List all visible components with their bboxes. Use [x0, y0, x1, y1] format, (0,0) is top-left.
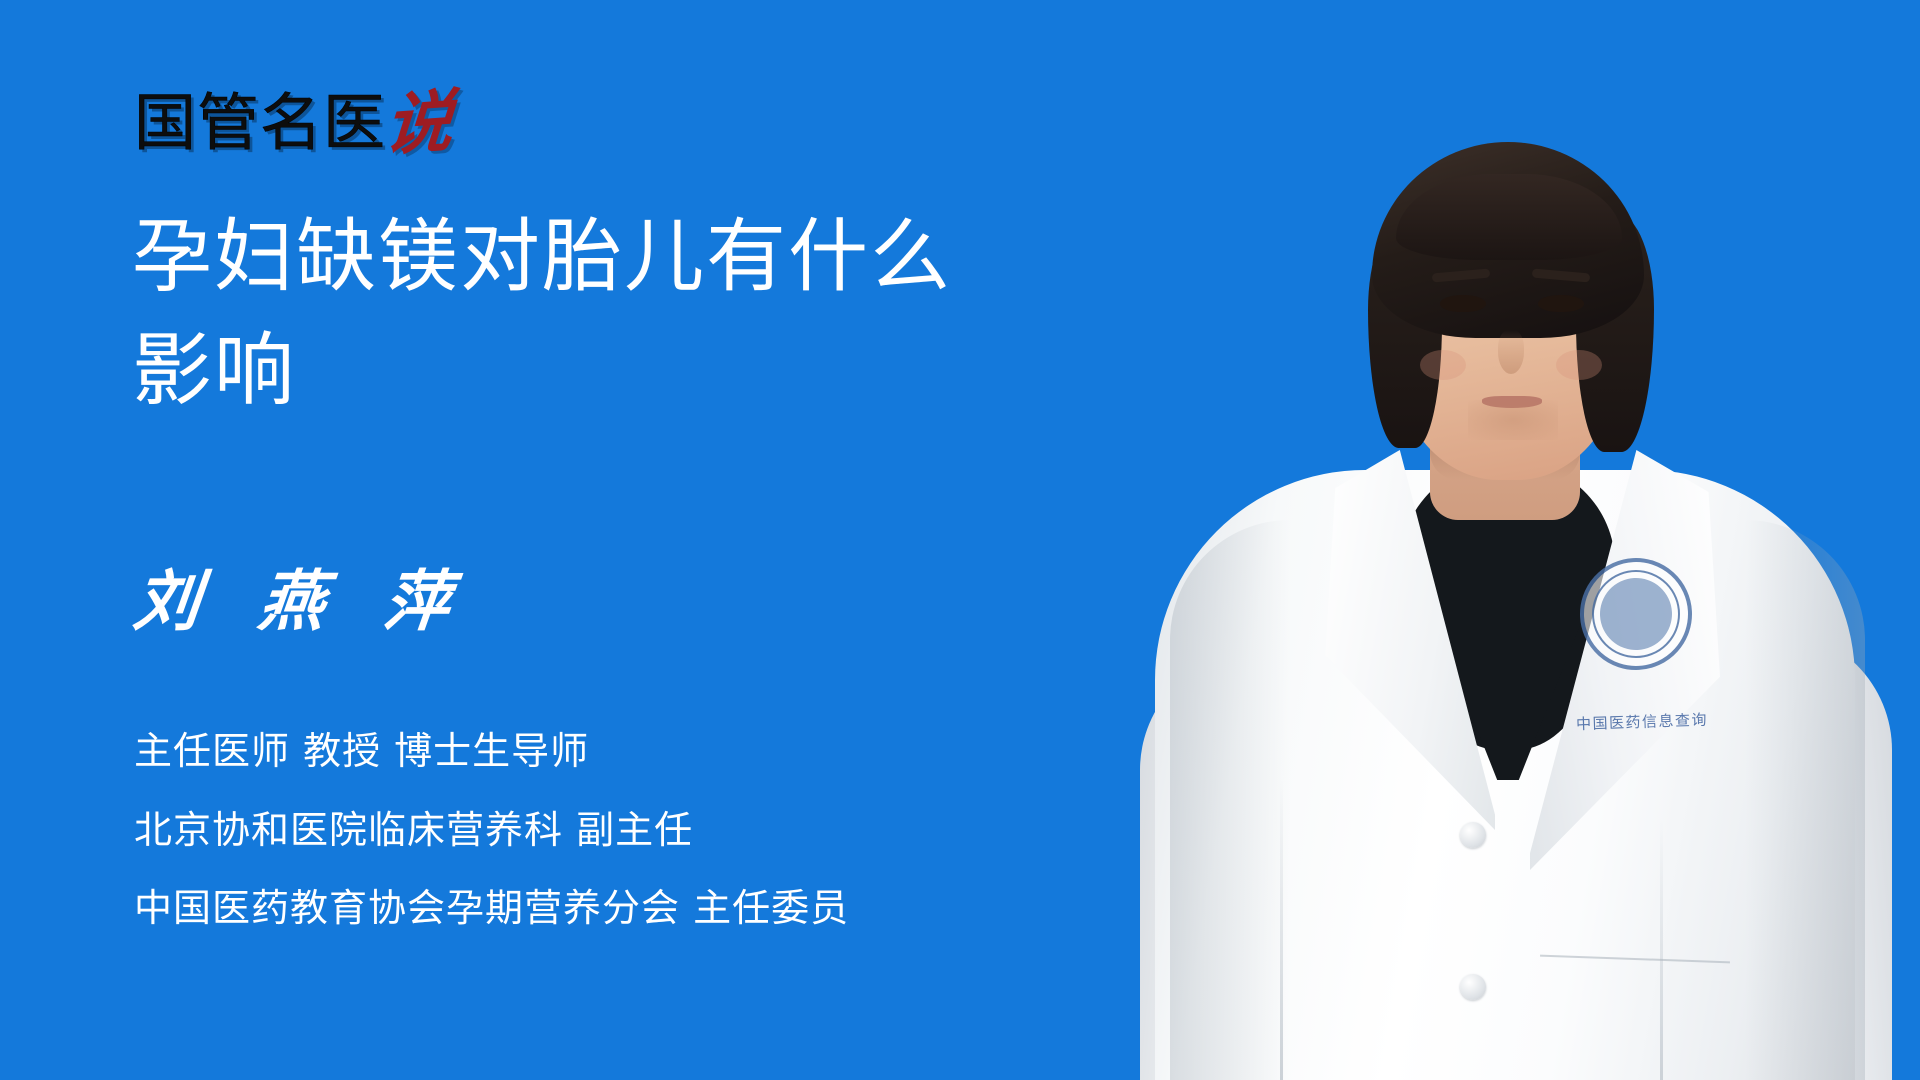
program-logo: 国管名医 说 — [134, 92, 450, 154]
coat-button-lower — [1460, 974, 1486, 1000]
coat-shadow-left — [1170, 520, 1290, 1080]
title-line-1: 孕妇缺镁对胎儿有什么 — [132, 200, 1052, 314]
doctor-credentials: 主任医师 教授 博士生导师 北京协和医院临床营养科 副主任 中国医药教育协会孕期… — [134, 712, 1134, 948]
portrait-cheek-right — [1556, 350, 1602, 380]
program-logo-main-text: 国管名医 — [134, 92, 386, 154]
credential-line-3: 中国医药教育协会孕期营养分会 主任委员 — [134, 869, 1134, 948]
coat-shadow-right — [1745, 520, 1865, 1080]
video-title-slide: 国管名医 说 孕妇缺镁对胎儿有什么 影响 刘 燕 萍 主任医师 教授 博士生导师… — [0, 0, 1920, 1080]
coat-fold-right — [1660, 820, 1663, 1080]
doctor-name: 刘 燕 萍 — [131, 568, 472, 634]
coat-fold-left — [1280, 780, 1283, 1080]
credential-line-2: 北京协和医院临床营养科 副主任 — [134, 791, 1134, 870]
portrait-eye-left — [1440, 295, 1486, 312]
badge-ring-icon — [1592, 570, 1680, 658]
portrait-cheek-left — [1420, 350, 1466, 380]
portrait-nose — [1498, 330, 1524, 374]
doctor-portrait: 中国医药信息查询 — [1100, 0, 1920, 1080]
page-title: 孕妇缺镁对胎儿有什么 影响 — [132, 200, 1052, 427]
portrait-chin-shading — [1468, 400, 1558, 440]
title-line-2: 影响 — [132, 314, 1052, 428]
coat-button-upper — [1460, 822, 1486, 848]
program-logo-accent-text: 说 — [382, 87, 455, 160]
portrait-eye-right — [1538, 295, 1584, 312]
credential-line-1: 主任医师 教授 博士生导师 — [134, 712, 1134, 791]
